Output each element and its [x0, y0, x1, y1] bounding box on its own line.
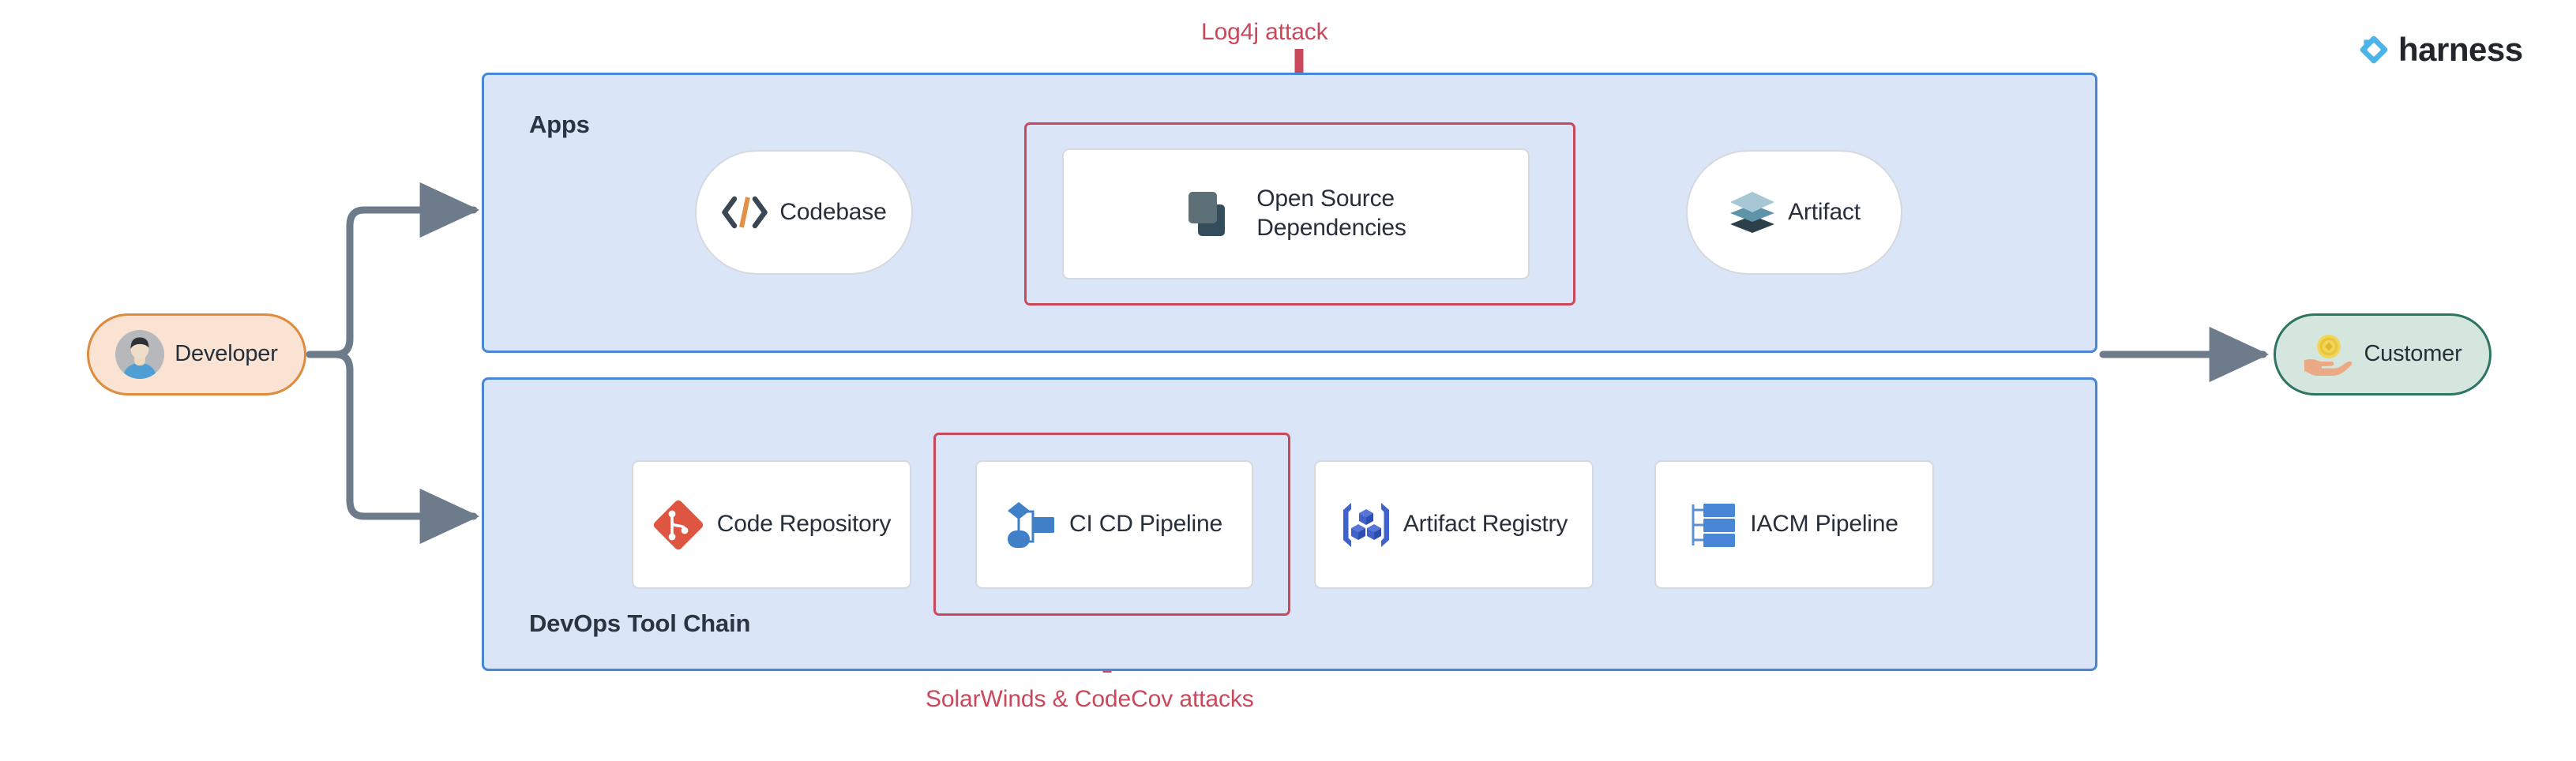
- edge-developer-to-devops: [336, 354, 474, 516]
- group-title-devops-tool-chain: DevOps Tool Chain: [529, 609, 750, 638]
- flowchart-icon: [1006, 500, 1057, 549]
- stacked-squares-icon: [1185, 189, 1236, 239]
- node-label-code-repository: Code Repository: [717, 510, 891, 539]
- node-code-repository[interactable]: Code Repository: [632, 460, 911, 589]
- node-label-artifact-registry: Artifact Registry: [1403, 510, 1568, 539]
- layers-stack-icon: [1728, 190, 1777, 234]
- edge-developer-to-apps: [336, 210, 474, 354]
- node-label-open-source-dependencies: Open Source Dependencies: [1256, 185, 1406, 242]
- node-developer[interactable]: Developer: [87, 313, 306, 395]
- code-brackets-icon: [721, 194, 768, 231]
- node-open-source-dependencies[interactable]: Open Source Dependencies: [1062, 148, 1530, 279]
- node-codebase[interactable]: Codebase: [695, 150, 913, 275]
- node-ci-cd-pipeline[interactable]: CI CD Pipeline: [975, 460, 1253, 589]
- attack-label-solarwinds-codecov: SolarWinds & CodeCov attacks: [926, 686, 1254, 713]
- node-label-ci-cd-pipeline: CI CD Pipeline: [1069, 510, 1222, 539]
- node-iacm-pipeline[interactable]: IACM Pipeline: [1654, 460, 1934, 589]
- registry-cubes-icon: [1340, 500, 1392, 549]
- node-label-customer: Customer: [2364, 340, 2461, 368]
- node-label-line-2: Dependencies: [1256, 215, 1406, 241]
- attack-label-log4j: Log4j attack: [1201, 19, 1328, 46]
- hierarchy-bars-icon: [1690, 501, 1739, 549]
- harness-diamond-icon: [2357, 33, 2390, 66]
- harness-wordmark: harness: [2398, 33, 2523, 66]
- node-artifact-registry[interactable]: Artifact Registry: [1314, 460, 1594, 589]
- node-label-developer: Developer: [175, 340, 277, 368]
- harness-logo: harness: [2357, 33, 2523, 66]
- git-branch-icon: [652, 499, 704, 551]
- group-title-apps: Apps: [529, 111, 590, 139]
- node-artifact[interactable]: Artifact: [1686, 150, 1902, 275]
- node-label-artifact: Artifact: [1788, 198, 1861, 227]
- node-label-codebase: Codebase: [779, 198, 886, 227]
- node-customer[interactable]: Customer: [2274, 313, 2492, 395]
- hand-holding-coin-icon: [2303, 330, 2353, 379]
- diagram-canvas: Apps DevOps Tool Chain Developer: [0, 0, 2576, 761]
- user-avatar-icon: [115, 330, 164, 379]
- node-label-iacm-pipeline: IACM Pipeline: [1750, 510, 1898, 539]
- node-label-line-1: Open Source: [1256, 186, 1395, 212]
